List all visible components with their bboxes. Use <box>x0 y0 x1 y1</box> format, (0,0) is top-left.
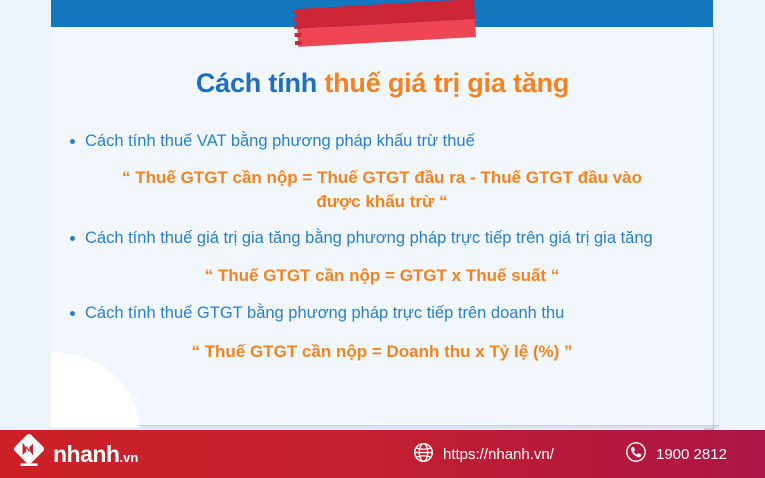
formula-text: “ Thuế GTGT cần nộp = GTGT x Thuế suất “ <box>51 264 713 287</box>
footer-phone[interactable]: 1900 2812 <box>625 430 727 478</box>
formula-text: “ Thuế GTGT cần nộp = Thuế GTGT đầu ra -… <box>51 166 713 213</box>
brand-logo-text: nhanh.vn <box>53 443 138 466</box>
slide-canvas: Cách tính thuế giá trị gia tăng Cách tín… <box>0 0 765 478</box>
footer-phone-label: 1900 2812 <box>656 446 727 463</box>
title-part-orange: thuế giá trị gia tăng <box>324 68 569 98</box>
page-title: Cách tính thuế giá trị gia tăng <box>0 68 765 99</box>
brand-name: nhanh <box>53 441 120 467</box>
bullet-dot-icon <box>70 311 75 316</box>
globe-icon <box>413 442 434 467</box>
brand-logo[interactable]: nhanh.vn <box>12 433 138 476</box>
list-item-label: Cách tính thuế VAT bằng phương pháp khấu… <box>85 130 699 153</box>
list-item-label: Cách tính thuế GTGT bằng phương pháp trự… <box>85 302 699 325</box>
formula-text: “ Thuế GTGT cần nộp = Doanh thu x Tỷ lệ … <box>51 340 713 363</box>
footer-website-label: https://nhanh.vn/ <box>443 446 554 463</box>
phone-circle-icon <box>625 441 647 467</box>
red-tape-decoration <box>296 0 476 45</box>
list-item: Cách tính thuế VAT bằng phương pháp khấu… <box>51 130 713 153</box>
nhanh-diamond-logo-icon <box>12 433 46 476</box>
title-part-blue: Cách tính <box>196 68 317 98</box>
bullet-dot-icon <box>70 139 75 144</box>
list-item: Cách tính thuế GTGT bằng phương pháp trự… <box>51 302 713 325</box>
list-item-label: Cách tính thuế giá trị gia tăng bằng phư… <box>85 227 699 250</box>
brand-tld: .vn <box>120 450 139 465</box>
footer-bar: nhanh.vn https://nhanh.vn/ <box>0 430 765 478</box>
footer-website[interactable]: https://nhanh.vn/ <box>413 430 554 478</box>
content-list: Cách tính thuế VAT bằng phương pháp khấu… <box>51 130 713 363</box>
bullet-dot-icon <box>70 236 75 241</box>
list-item: Cách tính thuế giá trị gia tăng bằng phư… <box>51 227 713 250</box>
